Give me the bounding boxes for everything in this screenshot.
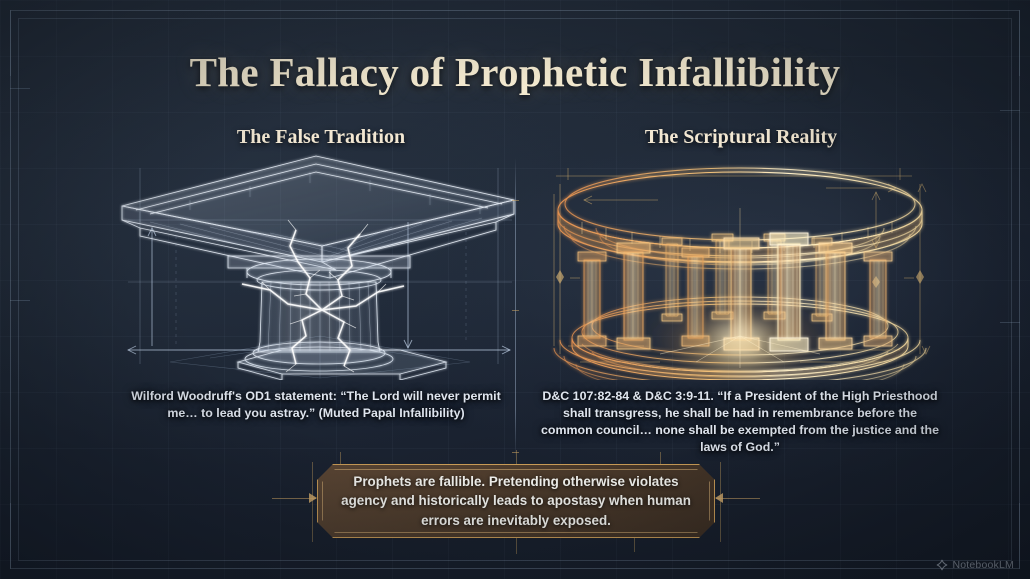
frame-tick-bot-right [1019, 503, 1020, 569]
callout-text: Prophets are fallible. Pretending otherw… [318, 465, 714, 537]
conclusion-callout: Prophets are fallible. Pretending otherw… [317, 464, 715, 538]
callout-arrow-right-head [715, 493, 723, 503]
callout-arrow-left-head [309, 493, 317, 503]
panel-caption-right: D&C 107:82-84 & D&C 3:9-11. “If a Presid… [540, 388, 940, 456]
illustration-cracked-pillar [110, 150, 530, 380]
panel-heading-right: The Scriptural Reality [546, 126, 936, 149]
frame-tick-left-b [10, 300, 30, 301]
callout-guide-bot-right [634, 538, 635, 552]
callout-guide-bot-mid [516, 538, 517, 554]
infographic-canvas: The Fallacy of Prophetic Infallibility T… [0, 0, 1030, 579]
frame-tick-right-a [1000, 110, 1020, 111]
illustration-golden-rotunda [540, 148, 940, 380]
panel-caption-left: Wilford Woodruff's OD1 statement: “The L… [118, 388, 514, 422]
page-title: The Fallacy of Prophetic Infallibility [0, 48, 1030, 96]
center-divider [515, 158, 516, 458]
frame-tick-right-b [1000, 322, 1020, 323]
watermark-label: NotebookLM [952, 559, 1014, 571]
notebooklm-spark-icon [936, 559, 948, 571]
frame-tick-bot-left [10, 503, 11, 569]
divider-tick-mid [512, 310, 519, 311]
watermark: NotebookLM [936, 559, 1014, 571]
divider-tick-top [512, 200, 519, 201]
panel-heading-left: The False Tradition [126, 126, 516, 149]
